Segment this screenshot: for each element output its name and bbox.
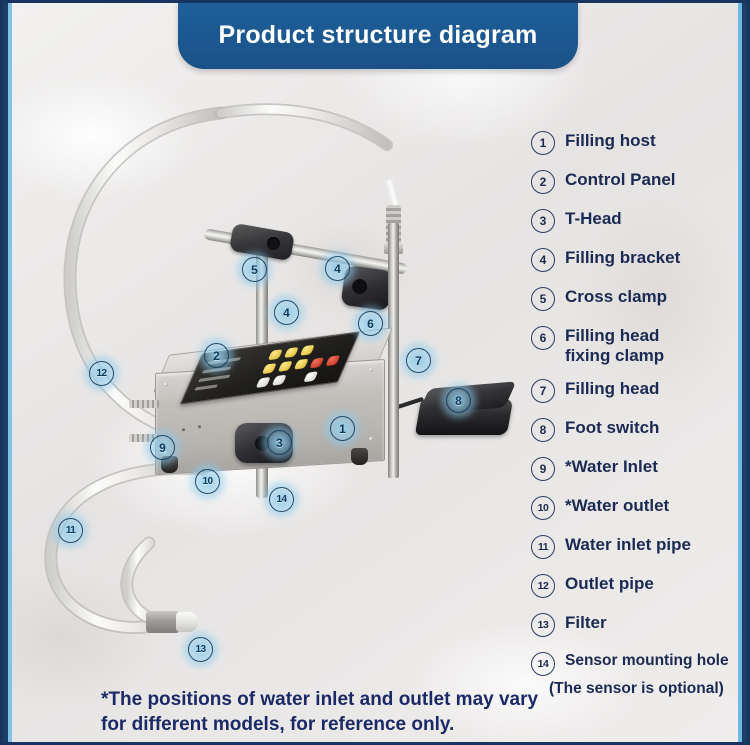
legend-number: 8 [531, 418, 555, 442]
callout-badge-water-inlet[interactable]: 9 [150, 435, 175, 460]
footnote-line-2: for different models, for reference only… [101, 712, 661, 737]
page-title: Product structure diagram [219, 21, 538, 50]
legend-item-water-inlet[interactable]: 9 *Water Inlet [531, 455, 747, 481]
panel-button-red[interactable] [325, 355, 340, 366]
footnote: *The positions of water inlet and outlet… [101, 687, 661, 738]
legend-number: 2 [531, 170, 555, 194]
legend-number: 6 [531, 326, 555, 350]
legend-number: 10 [531, 496, 555, 520]
inline-filter [146, 611, 198, 633]
sensor-mounting-hole [198, 425, 201, 428]
callout-badge-filling-head[interactable]: 7 [406, 348, 431, 373]
sensor-mounting-hole [182, 428, 185, 431]
callout-badge-filling-head-fixing-clamp[interactable]: 6 [358, 311, 383, 336]
callout-badge-filling-bracket-vert[interactable]: 4 [274, 300, 299, 325]
legend-item-water-outlet[interactable]: 10 *Water outlet [531, 494, 747, 520]
legend-label: *Water outlet [565, 494, 669, 516]
callout-badge-outlet-pipe[interactable]: 12 [89, 361, 114, 386]
panel-button-white[interactable] [256, 377, 271, 388]
legend-number: 5 [531, 287, 555, 311]
panel-button-yellow[interactable] [262, 363, 277, 374]
panel-button-white[interactable] [303, 371, 318, 382]
legend-label: Filling headfixing clamp [565, 324, 664, 366]
callout-badge-filling-bracket-horiz[interactable]: 4 [325, 256, 350, 281]
panel-button-yellow[interactable] [300, 345, 315, 356]
legend-number: 9 [531, 457, 555, 481]
callout-badge-sensor-mounting-hole[interactable]: 14 [269, 487, 294, 512]
panel-button-yellow[interactable] [284, 347, 299, 358]
product-structure-diagram: Product structure diagram [0, 0, 750, 745]
legend-label: Filling host [565, 129, 656, 151]
product-photo [3, 83, 533, 683]
panel-button-red[interactable] [309, 357, 324, 368]
legend-label: Filling head [565, 377, 659, 399]
legend-label: Sensor mounting hole [565, 650, 729, 670]
legend-list: 1 Filling host 2 Control Panel 3 T-Head … [531, 129, 747, 698]
panel-button-yellow[interactable] [268, 349, 283, 360]
filter-body [146, 611, 180, 633]
legend-item-filling-head[interactable]: 7 Filling head [531, 377, 747, 403]
legend-label-line2: fixing clamp [565, 346, 664, 366]
legend-number: 7 [531, 379, 555, 403]
legend-number: 11 [531, 535, 555, 559]
legend-item-filter[interactable]: 13 Filter [531, 611, 747, 637]
callout-badge-filling-host[interactable]: 1 [330, 416, 355, 441]
callout-badge-water-outlet[interactable]: 10 [195, 469, 220, 494]
legend-label-line1: Filling head [565, 326, 664, 346]
footnote-line-1: *The positions of water inlet and outlet… [101, 687, 661, 712]
callout-badge-water-inlet-pipe[interactable]: 11 [58, 518, 83, 543]
legend-label: Outlet pipe [565, 572, 654, 594]
panel-label [194, 384, 217, 390]
legend-item-sensor-mounting-hole[interactable]: 14 Sensor mounting hole [531, 650, 747, 676]
cabinet-foot [351, 448, 368, 465]
legend-number: 14 [531, 652, 555, 676]
legend-number: 12 [531, 574, 555, 598]
legend-item-water-inlet-pipe[interactable]: 11 Water inlet pipe [531, 533, 747, 559]
legend-label: Foot switch [565, 416, 659, 438]
callout-badge-t-head[interactable]: 3 [267, 430, 292, 455]
legend-label: T-Head [565, 207, 622, 229]
legend-number: 4 [531, 248, 555, 272]
legend-item-cross-clamp[interactable]: 5 Cross clamp [531, 285, 747, 311]
panel-button-white[interactable] [272, 375, 287, 386]
legend-label: Cross clamp [565, 285, 667, 307]
legend-number: 13 [531, 613, 555, 637]
water-inlet-barb [129, 400, 159, 408]
legend-item-filling-bracket[interactable]: 4 Filling bracket [531, 246, 747, 272]
header-banner: Product structure diagram [178, 1, 578, 69]
callout-badge-foot-switch[interactable]: 8 [446, 388, 471, 413]
legend-item-outlet-pipe[interactable]: 12 Outlet pipe [531, 572, 747, 598]
screw [369, 368, 373, 372]
screw [164, 382, 168, 386]
callout-badge-cross-clamp[interactable]: 5 [242, 257, 267, 282]
legend-number: 3 [531, 209, 555, 233]
legend-item-filling-host[interactable]: 1 Filling host [531, 129, 747, 155]
legend-number: 1 [531, 131, 555, 155]
legend-label: Control Panel [565, 168, 676, 190]
panel-label [198, 375, 230, 383]
callout-badge-filter[interactable]: 13 [188, 637, 213, 662]
legend-item-control-panel[interactable]: 2 Control Panel [531, 168, 747, 194]
panel-button-yellow[interactable] [278, 361, 293, 372]
legend-item-t-head[interactable]: 3 T-Head [531, 207, 747, 233]
legend-item-filling-head-fixing-clamp[interactable]: 6 Filling headfixing clamp [531, 324, 747, 366]
legend-label: Water inlet pipe [565, 533, 691, 555]
legend-label: Filling bracket [565, 246, 680, 268]
panel-button-yellow[interactable] [294, 359, 309, 370]
screw [369, 437, 373, 441]
legend-item-foot-switch[interactable]: 8 Foot switch [531, 416, 747, 442]
callout-badge-control-panel[interactable]: 2 [204, 343, 229, 368]
legend-label: *Water Inlet [565, 455, 658, 477]
legend-label: Filter [565, 611, 607, 633]
filter-cap [176, 612, 198, 632]
